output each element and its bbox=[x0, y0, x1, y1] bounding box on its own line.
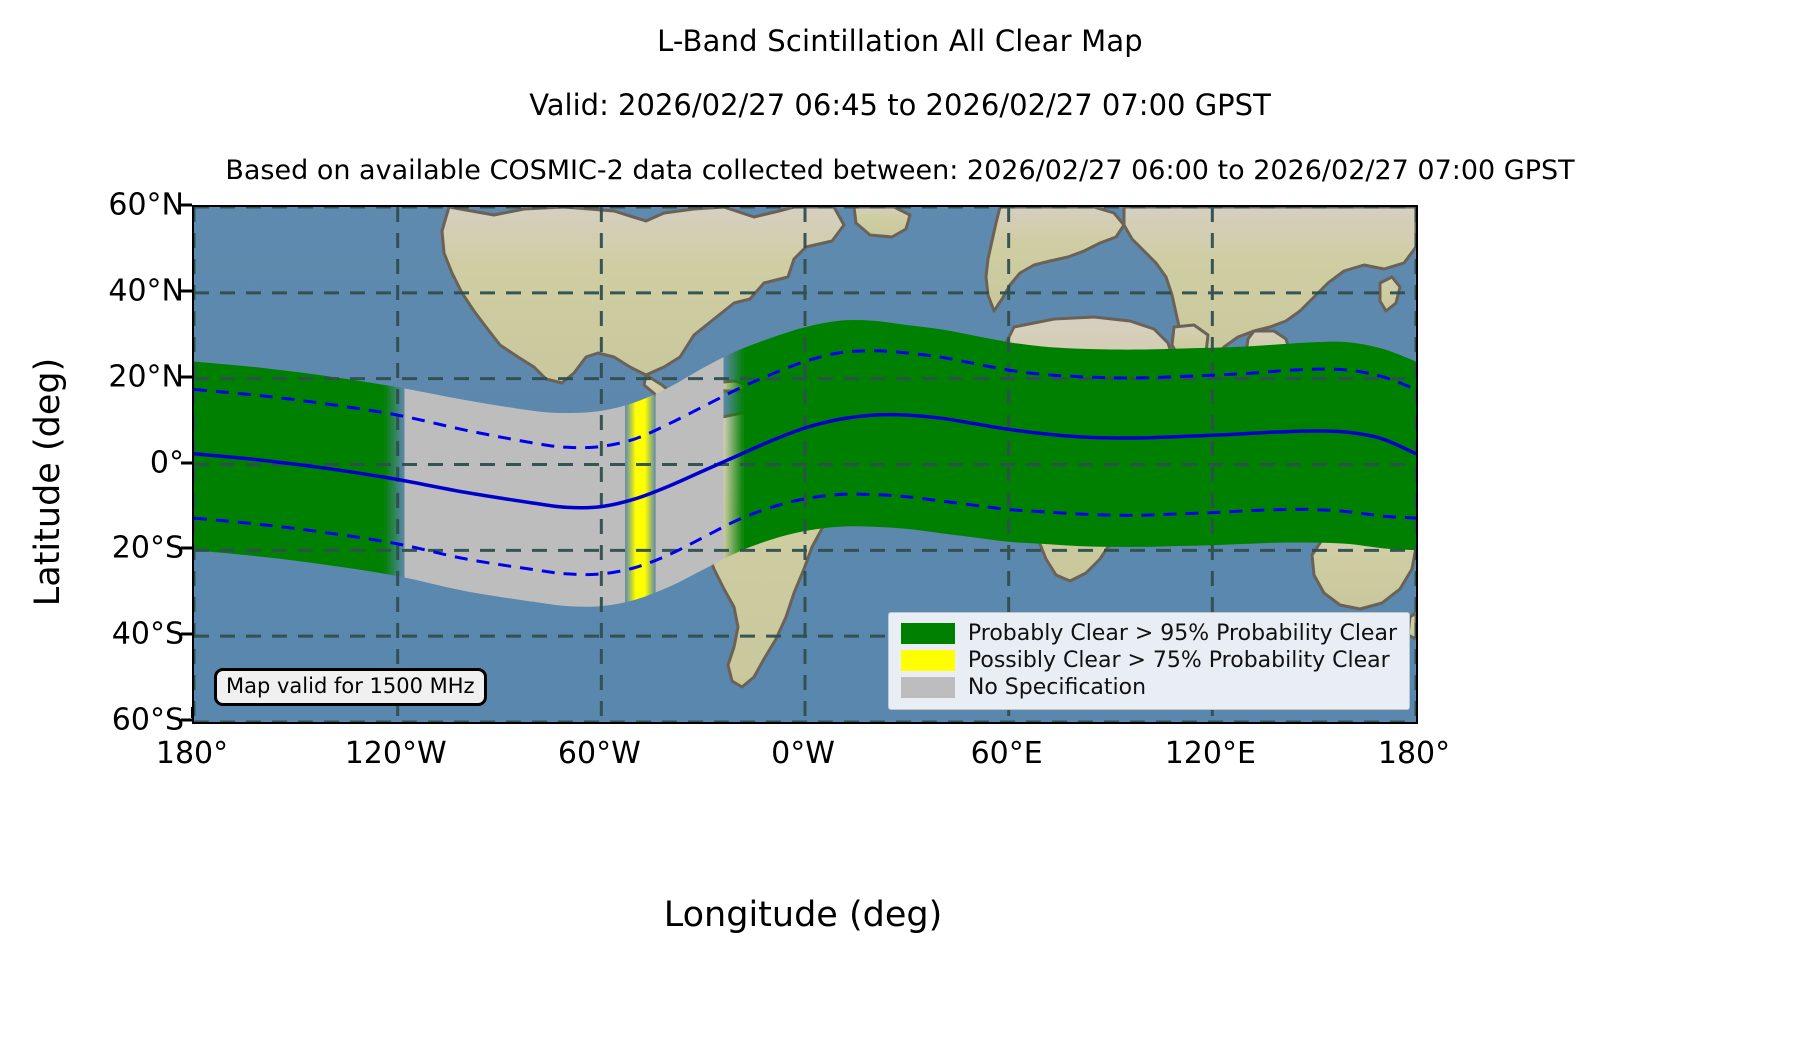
x-tick-label: 120°W bbox=[296, 736, 496, 771]
y-tick-mark bbox=[181, 375, 192, 378]
map-plot-area[interactable]: Map valid for 1500 MHz Probably Clear > … bbox=[192, 205, 1418, 724]
x-tick-label: 0°W bbox=[703, 736, 903, 771]
x-tick-label: 60°E bbox=[907, 736, 1107, 771]
legend-item: Probably Clear > 95% Probability Clear bbox=[901, 620, 1397, 647]
legend-swatch bbox=[901, 650, 955, 671]
legend-item: No Specification bbox=[901, 674, 1397, 701]
y-tick-label: 60°N bbox=[4, 188, 184, 223]
y-tick-mark bbox=[181, 719, 192, 722]
figure-root: L-Band Scintillation All Clear Map Valid… bbox=[0, 0, 1800, 1050]
legend-label: No Specification bbox=[968, 675, 1146, 700]
data-source-subtitle: Based on available COSMIC-2 data collect… bbox=[0, 155, 1800, 186]
legend-label: Probably Clear > 95% Probability Clear bbox=[968, 621, 1397, 646]
y-tick-label: 0° bbox=[4, 445, 184, 480]
y-tick-mark bbox=[181, 289, 192, 292]
y-tick-label: 40°N bbox=[4, 273, 184, 308]
y-tick-mark bbox=[181, 461, 192, 464]
y-tick-label: 20°N bbox=[4, 359, 184, 394]
legend-item: Possibly Clear > 75% Probability Clear bbox=[901, 647, 1397, 674]
y-tick-mark bbox=[181, 633, 192, 636]
x-tick-label: 120°E bbox=[1110, 736, 1310, 771]
x-tick-label: 180° bbox=[1314, 736, 1514, 771]
y-tick-label: 40°S bbox=[4, 617, 184, 652]
map-legend: Probably Clear > 95% Probability ClearPo… bbox=[888, 612, 1410, 710]
legend-swatch bbox=[901, 677, 955, 698]
y-tick-mark bbox=[181, 547, 192, 550]
x-axis-title: Longitude (deg) bbox=[192, 895, 1414, 935]
y-tick-label: 20°S bbox=[4, 531, 184, 566]
x-tick-label: 180° bbox=[92, 736, 292, 771]
y-tick-label: 60°S bbox=[4, 703, 184, 738]
x-tick-label: 60°W bbox=[499, 736, 699, 771]
frequency-annotation: Map valid for 1500 MHz bbox=[214, 668, 487, 706]
valid-period-subtitle: Valid: 2026/02/27 06:45 to 2026/02/27 07… bbox=[0, 88, 1800, 122]
page-title: L-Band Scintillation All Clear Map bbox=[0, 24, 1800, 58]
legend-label: Possibly Clear > 75% Probability Clear bbox=[968, 648, 1390, 673]
legend-swatch bbox=[901, 623, 955, 644]
y-tick-mark bbox=[181, 204, 192, 207]
